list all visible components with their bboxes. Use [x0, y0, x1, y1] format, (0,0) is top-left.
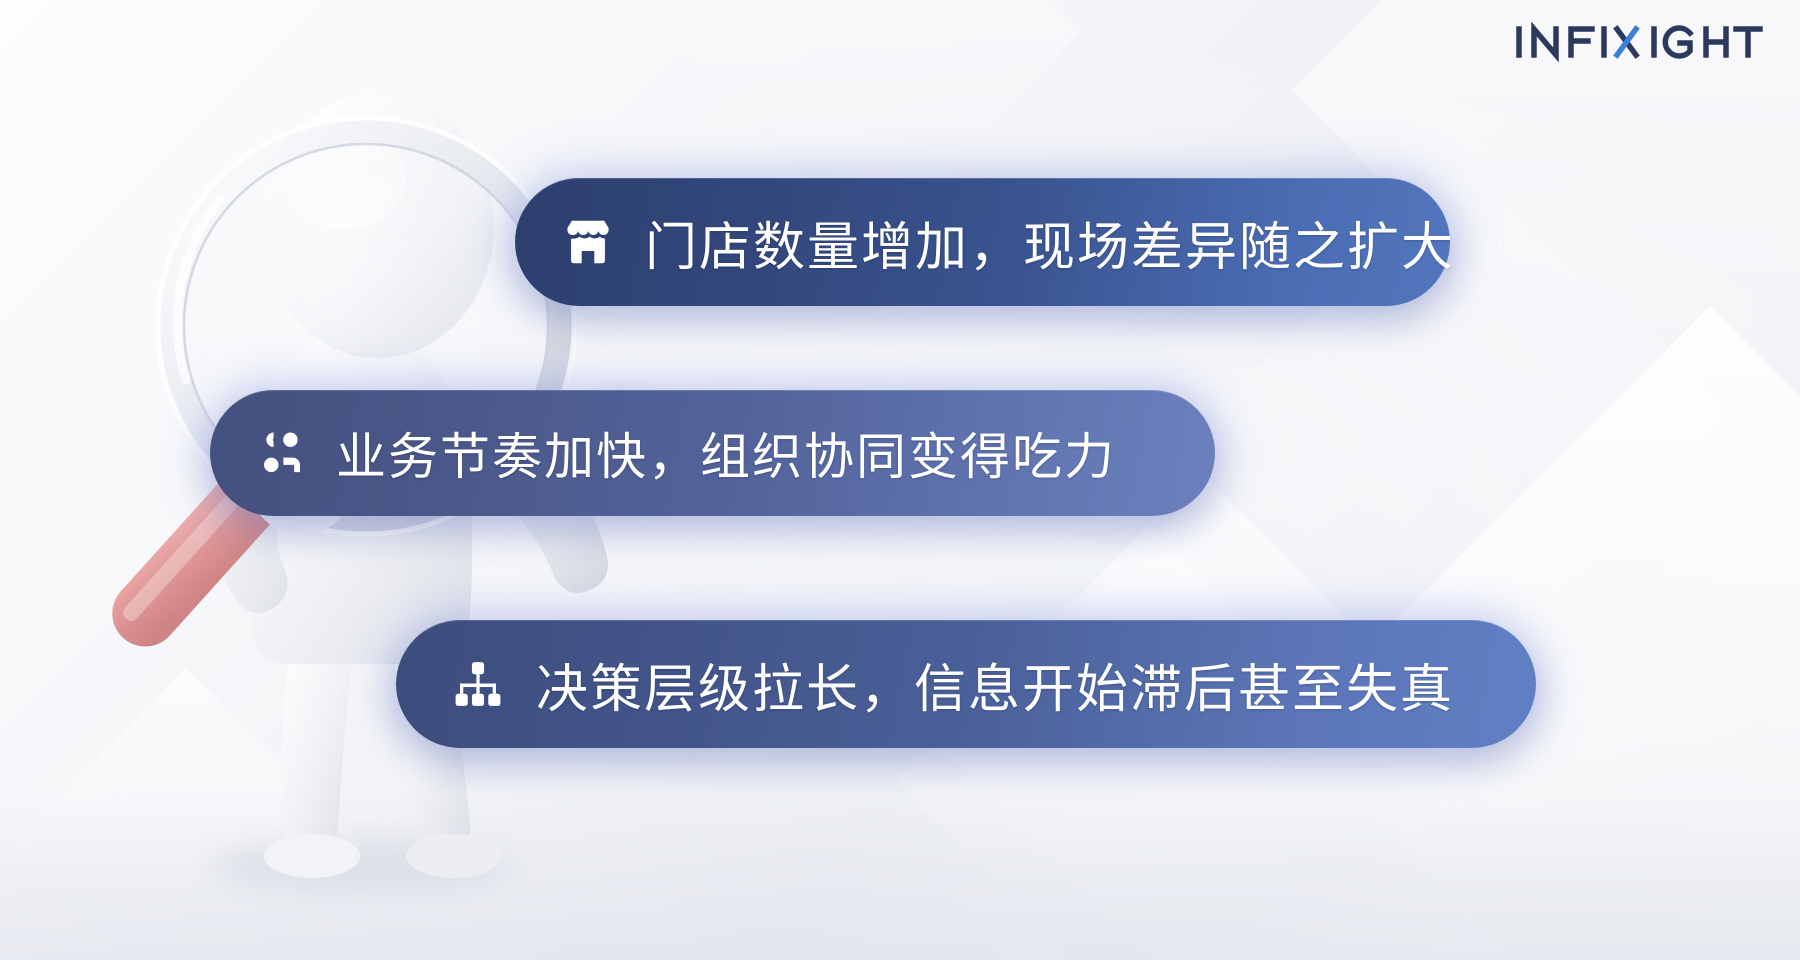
statement-pill-2[interactable]: 业务节奏加快，组织协同变得吃力	[210, 390, 1215, 516]
store-icon	[559, 213, 617, 271]
slide-canvas: 门店数量增加，现场差异随之扩大 业务节奏加快，组织协同变得吃力	[0, 0, 1800, 960]
statement-pill-3-label: 决策层级拉长，信息开始滞后甚至失真	[536, 647, 1454, 722]
org-hierarchy-icon	[450, 656, 506, 712]
brand-logo	[1514, 22, 1764, 62]
statement-pill-1[interactable]: 门店数量增加，现场差异随之扩大	[515, 178, 1450, 306]
team-people-icon	[254, 425, 310, 481]
statement-pill-1-label: 门店数量增加，现场差异随之扩大	[645, 205, 1455, 280]
statement-pill-3[interactable]: 决策层级拉长，信息开始滞后甚至失真	[396, 620, 1536, 748]
statement-pill-2-label: 业务节奏加快，组织协同变得吃力	[336, 417, 1116, 489]
